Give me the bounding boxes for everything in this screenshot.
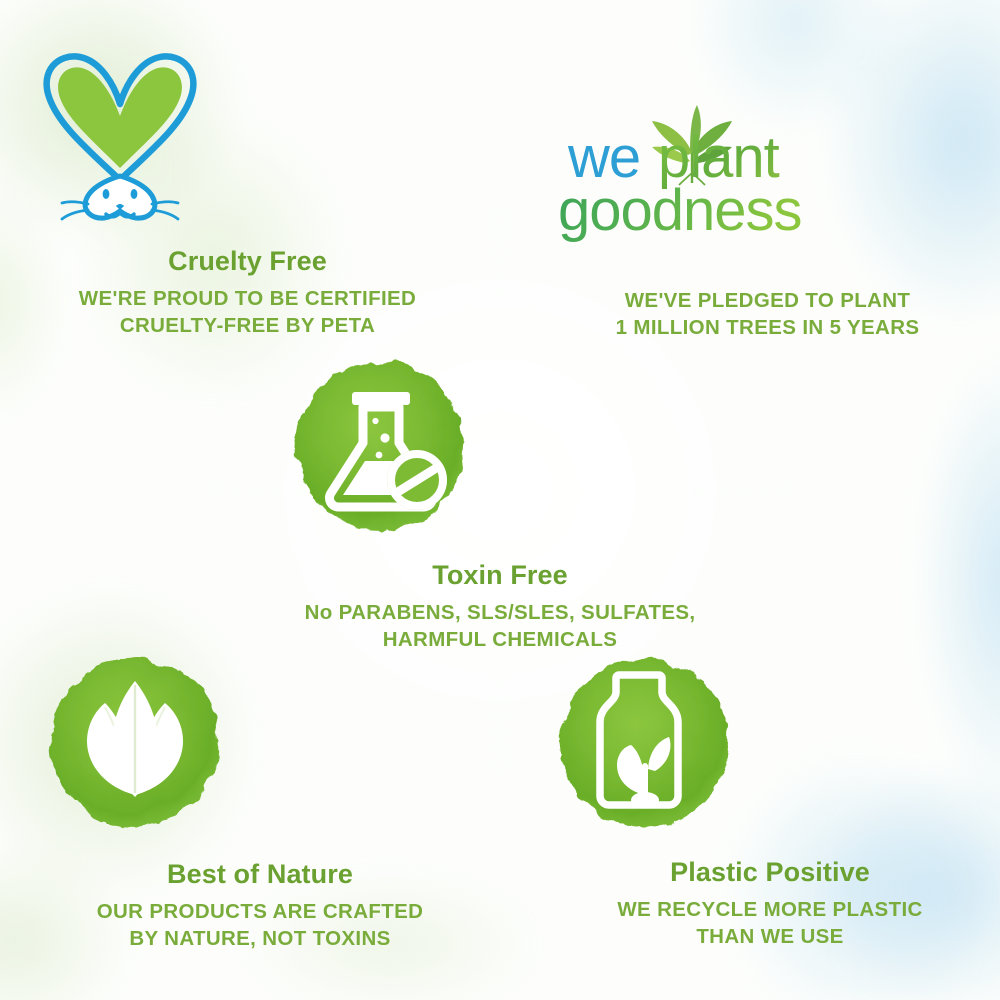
- peta-bunny-icon: [20, 28, 475, 228]
- badge-description-line2: CRUELTY-FREE BY PETA: [120, 314, 375, 337]
- badge-description-line2: THAN WE USE: [696, 925, 843, 948]
- badge-we-plant-goodness: we plant goodness WE'VE PLEDGED TO PLANT…: [540, 95, 995, 341]
- badge-title: Plastic Positive: [545, 857, 995, 888]
- badge-plastic-positive: Plastic Positive WE RECYCLE MORE PLASTIC…: [545, 645, 995, 950]
- badge-title: Best of Nature: [35, 859, 485, 890]
- svg-text:goodness: goodness: [558, 178, 802, 243]
- badge-description-line1: WE'RE PROUD TO BE CERTIFIED: [79, 287, 416, 310]
- badge-description-line1: OUR PRODUCTS ARE CRAFTED: [97, 900, 424, 923]
- bottle-sprout-icon: [545, 645, 995, 845]
- badge-toxin-free: Toxin Free No PARABENS, SLS/SLES, SULFAT…: [280, 348, 720, 653]
- badge-title: Cruelty Free: [20, 246, 475, 277]
- badge-description: WE'VE PLEDGED TO PLANT 1 MILLION TREES I…: [540, 287, 995, 341]
- badge-description: OUR PRODUCTS ARE CRAFTED BY NATURE, NOT …: [35, 898, 485, 952]
- badge-description: WE'RE PROUD TO BE CERTIFIED CRUELTY-FREE…: [20, 285, 475, 339]
- infographic-canvas: Cruelty Free WE'RE PROUD TO BE CERTIFIED…: [0, 0, 1000, 1000]
- flask-no-entry-icon: [280, 348, 720, 548]
- we-plant-goodness-logo: we plant goodness: [540, 95, 995, 245]
- three-leaves-icon: [35, 645, 485, 845]
- badge-best-of-nature: Best of Nature OUR PRODUCTS ARE CRAFTED …: [35, 645, 485, 952]
- badge-title: Toxin Free: [280, 560, 720, 591]
- badge-description-line1: No PARABENS, SLS/SLES, SULFATES,: [305, 601, 696, 624]
- badge-description-line2: BY NATURE, NOT TOXINS: [129, 927, 390, 950]
- badge-cruelty-free: Cruelty Free WE'RE PROUD TO BE CERTIFIED…: [20, 28, 475, 339]
- badge-description-line2: 1 MILLION TREES IN 5 YEARS: [616, 316, 920, 339]
- badge-description-line1: WE RECYCLE MORE PLASTIC: [617, 898, 922, 921]
- badge-description-line1: WE'VE PLEDGED TO PLANT: [625, 289, 911, 312]
- badge-description: WE RECYCLE MORE PLASTIC THAN WE USE: [545, 896, 995, 950]
